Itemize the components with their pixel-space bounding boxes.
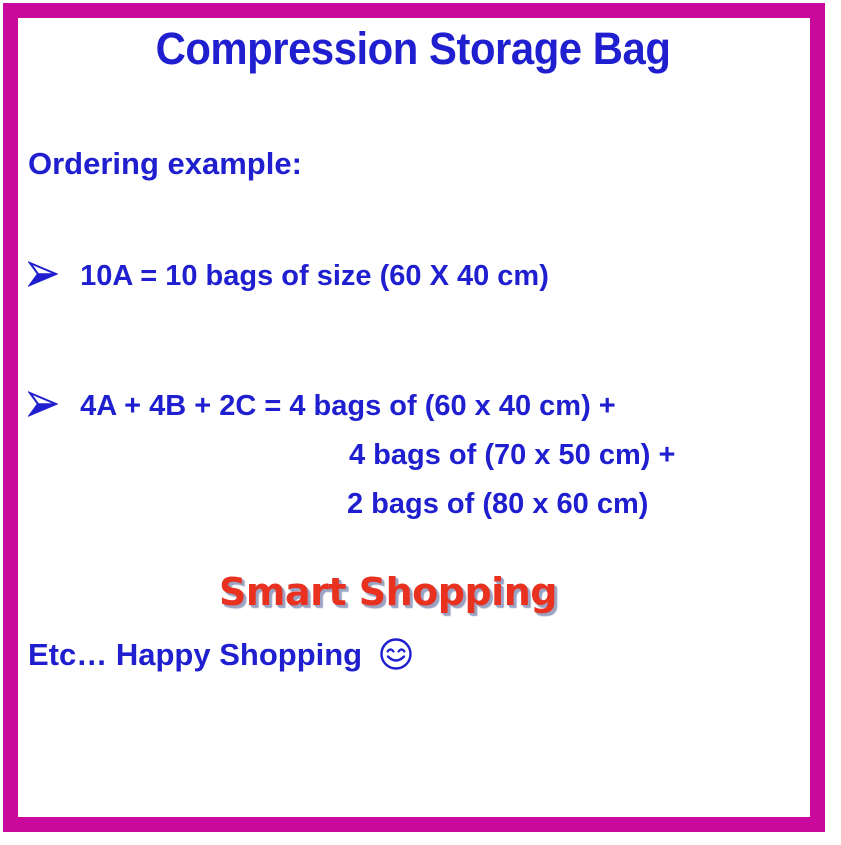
bullet-item-2-continuation-2: 2 bags of (80 x 60 cm) [347,486,648,522]
slide-canvas: Compression Storage Bag Ordering example… [0,0,841,845]
arrow-bullet-icon [28,260,58,286]
bullet-item-2-continuation-1: 4 bags of (70 x 50 cm) + [349,437,675,473]
smart-shopping-wordart: Smart Shopping [18,570,758,614]
arrow-bullet-icon [28,390,58,416]
slide-content: Compression Storage Bag Ordering example… [0,0,841,845]
smiley-face-icon [379,637,413,671]
footer-text: Etc… Happy Shopping [28,637,362,672]
page-title: Compression Storage Bag [46,24,781,74]
footer-line: Etc… Happy Shopping [28,636,413,673]
bullet-item-2: 4A + 4B + 2C = 4 bags of (60 x 40 cm) + [28,388,616,424]
bullet-item-2-text: 4A + 4B + 2C = 4 bags of (60 x 40 cm) + [80,388,616,424]
bullet-item-1: 10A = 10 bags of size (60 X 40 cm) [28,258,549,294]
ordering-example-heading: Ordering example: [28,145,302,182]
bullet-item-1-text: 10A = 10 bags of size (60 X 40 cm) [80,258,549,294]
